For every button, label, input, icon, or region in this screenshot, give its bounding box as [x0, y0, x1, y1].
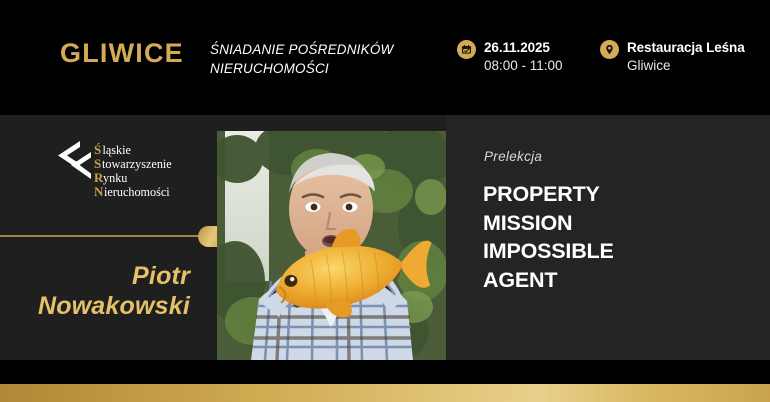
city-title: GLIWICE: [60, 40, 184, 67]
speaker-last-name: Nowakowski: [0, 292, 190, 322]
speaker-name: Piotr Nowakowski: [0, 262, 190, 321]
svg-text:S: S: [94, 156, 101, 171]
bottom-gold-bar: [0, 384, 770, 402]
event-location-text: Restauracja Leśna Gliwice: [627, 39, 745, 75]
event-time-range: 08:00 - 11:00: [484, 57, 563, 75]
event-subtitle: ŚNIADANIE POŚREDNIKÓW NIERUCHOMOŚCI: [210, 40, 425, 78]
map-pin-icon: [600, 40, 619, 59]
association-logo: Ś ląskie S towarzyszenie R ynku N ieruch…: [50, 138, 185, 200]
talk-title-line: IMPOSSIBLE: [483, 237, 753, 266]
svg-text:ląskie: ląskie: [103, 143, 131, 157]
event-location-block: Restauracja Leśna Gliwice: [600, 39, 745, 75]
talk-label: Prelekcja: [484, 149, 542, 164]
svg-text:N: N: [94, 184, 104, 199]
event-banner: GLIWICE ŚNIADANIE POŚREDNIKÓW NIERUCHOMO…: [0, 0, 770, 402]
gold-divider-rule: [0, 235, 214, 237]
talk-title-line: PROPERTY: [483, 180, 753, 209]
speaker-photo: [217, 131, 446, 360]
event-date-text: 26.11.2025 08:00 - 11:00: [484, 39, 563, 75]
svg-text:towarzyszenie: towarzyszenie: [102, 157, 172, 171]
event-date-block: 26.11.2025 08:00 - 11:00: [457, 39, 563, 75]
speaker-first-name: Piotr: [0, 262, 190, 292]
calendar-icon: [457, 40, 476, 59]
stage-bottom-band: [0, 360, 770, 384]
talk-title-line: AGENT: [483, 266, 753, 295]
svg-text:Ś: Ś: [94, 142, 101, 157]
venue-city: Gliwice: [627, 57, 745, 75]
talk-title: PROPERTY MISSION IMPOSSIBLE AGENT: [483, 180, 753, 294]
svg-text:ieruchomości: ieruchomości: [104, 185, 170, 199]
header-bar: GLIWICE ŚNIADANIE POŚREDNIKÓW NIERUCHOMO…: [0, 0, 770, 115]
venue-name: Restauracja Leśna: [627, 39, 745, 57]
talk-title-line: MISSION: [483, 209, 753, 238]
svg-text:ynku: ynku: [103, 171, 127, 185]
event-date-value: 26.11.2025: [484, 39, 563, 57]
